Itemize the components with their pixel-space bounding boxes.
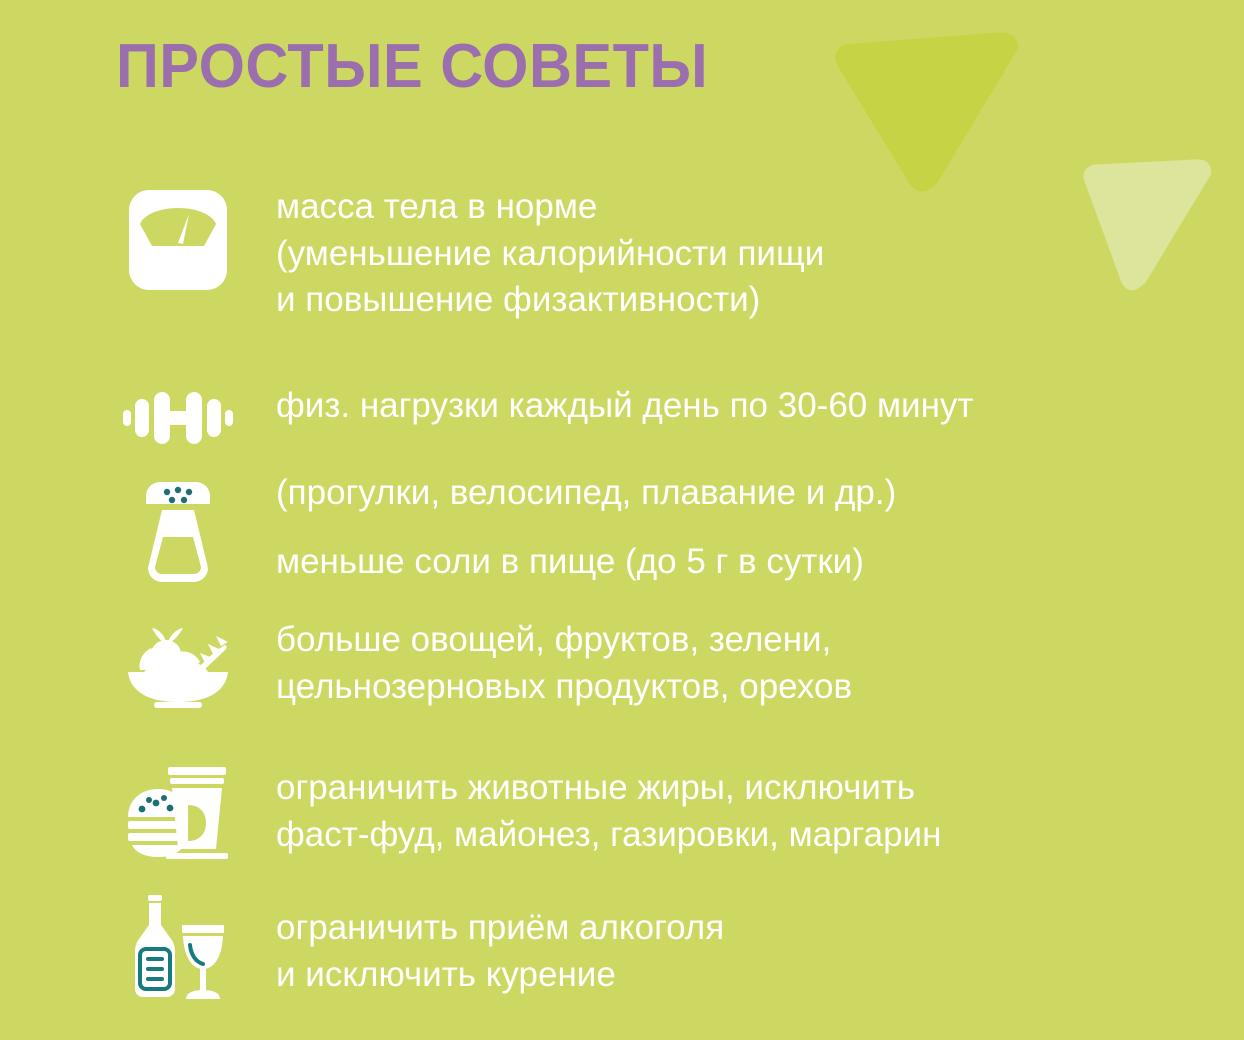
tip-line: больше овощей, фруктов, зелени,	[276, 617, 852, 664]
salt-shaker-icon	[118, 480, 238, 585]
tip-line: и повышение физактивности)	[276, 277, 824, 324]
triangle-large-icon	[826, 22, 1026, 202]
alcohol-bottle-glass-icon	[118, 895, 238, 1001]
tip-text: ограничить приём алкоголя и исключить ку…	[276, 905, 724, 998]
tip-text: масса тела в норме (уменьшение калорийно…	[276, 184, 824, 324]
tip-line: физ. нагрузки каждый день по 30-60 минут	[276, 383, 973, 430]
tip-line: цельнозерновых продуктов, орехов	[276, 664, 852, 711]
tip-line: и исключить курение	[276, 952, 724, 999]
salad-bowl-icon	[118, 620, 238, 710]
infographic-poster: ПРОСТЫЕ СОВЕТЫ масса тела в норме (умень…	[0, 0, 1244, 1040]
triangle-small-icon	[1072, 140, 1212, 300]
fast-food-icon	[118, 765, 238, 861]
dumbbell-icon	[118, 388, 238, 448]
tip-text: (прогулки, велосипед, плавание и др.) ме…	[276, 470, 896, 585]
tip-line: (уменьшение калорийности пищи	[276, 231, 824, 278]
tip-text: физ. нагрузки каждый день по 30-60 минут	[276, 383, 973, 430]
tip-line: ограничить приём алкоголя	[276, 905, 724, 952]
tip-text: больше овощей, фруктов, зелени, цельнозе…	[276, 617, 852, 710]
tip-line: (прогулки, велосипед, плавание и др.)	[276, 470, 896, 517]
tip-text: ограничить животные жиры, исключить фаст…	[276, 765, 941, 858]
tip-line: ограничить животные жиры, исключить	[276, 765, 941, 812]
tip-line: меньше соли в пище (до 5 г в сутки)	[276, 539, 896, 586]
tip-line: масса тела в норме	[276, 184, 824, 231]
page-title: ПРОСТЫЕ СОВЕТЫ	[116, 36, 708, 98]
tip-line: фаст-фуд, майонез, газировки, маргарин	[276, 812, 941, 859]
bathroom-scale-icon	[118, 188, 238, 292]
